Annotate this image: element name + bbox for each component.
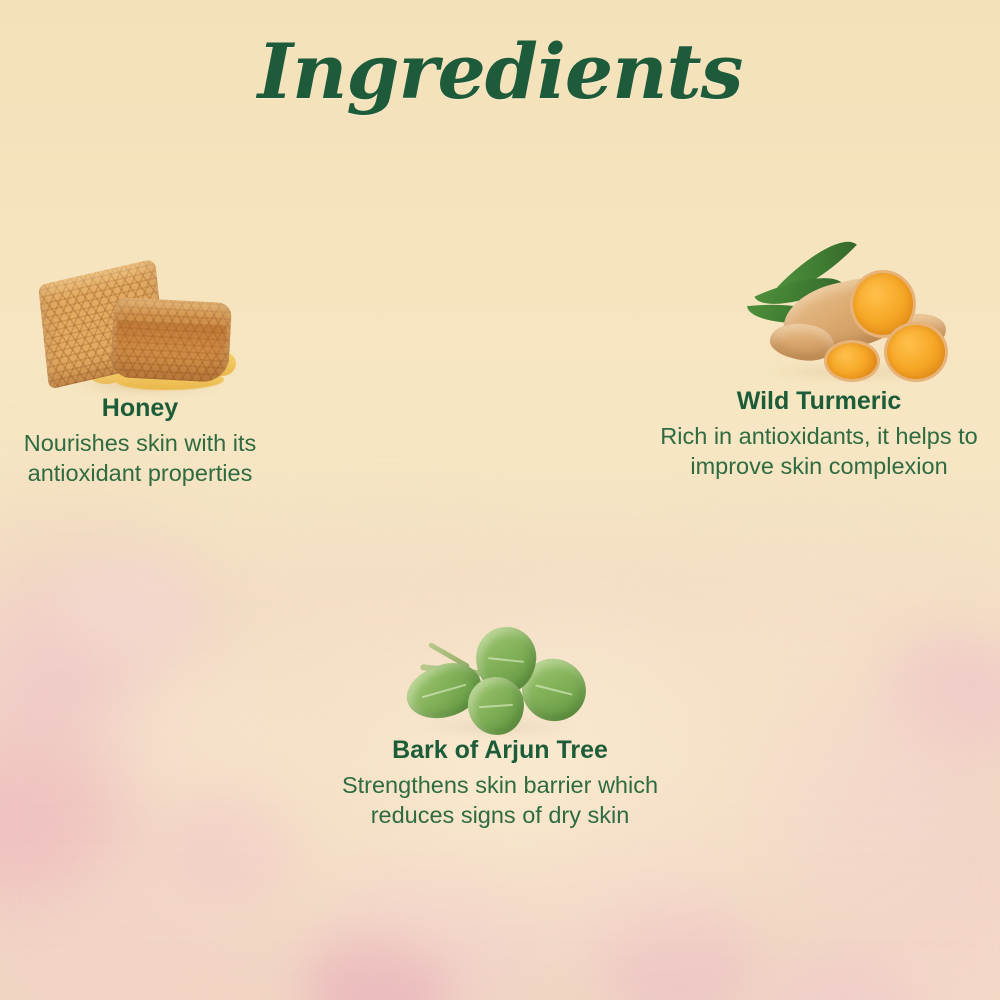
ingredient-card-honey: Honey Nourishes skin with its antioxidan… — [0, 270, 280, 489]
bokeh-blob — [740, 720, 960, 890]
bokeh-blob — [0, 600, 190, 780]
description-line: Rich in antioxidants, it helps to — [638, 421, 1000, 452]
ingredient-card-wild-turmeric: Wild Turmeric Rich in antioxidants, it h… — [638, 248, 1000, 482]
arjun-leaves-illustration — [300, 625, 700, 737]
turmeric-slice — [884, 322, 948, 382]
description-line: antioxidant properties — [0, 458, 280, 489]
ingredient-card-bark-of-arjun-tree: Bark of Arjun Tree Strengthens skin barr… — [300, 625, 700, 831]
leaf-vein — [479, 704, 513, 708]
description-line: improve skin complexion — [638, 451, 1000, 482]
ingredient-name-bark-of-arjun-tree: Bark of Arjun Tree — [300, 737, 700, 765]
ingredients-poster: Ingredients Honey Nourishes skin with it… — [0, 0, 1000, 1000]
bokeh-blob — [170, 790, 300, 900]
bokeh-blob — [330, 840, 540, 1000]
bokeh-blob — [60, 560, 200, 660]
bokeh-blob — [120, 660, 310, 810]
background-bokeh — [0, 0, 1000, 1000]
bokeh-blob — [760, 960, 920, 1000]
bokeh-blob — [600, 900, 750, 1000]
bokeh-blob — [680, 560, 920, 740]
turmeric-root-illustration — [638, 248, 1000, 388]
leaf-vein — [535, 684, 573, 695]
bokeh-blob — [0, 940, 300, 1000]
bokeh-blob — [40, 860, 270, 1000]
ingredient-name-honey: Honey — [0, 395, 280, 423]
page-title: Ingredients — [0, 34, 1000, 110]
description-line: Strengthens skin barrier which — [300, 770, 700, 801]
honeycomb-rim — [115, 321, 227, 367]
bokeh-blob — [880, 640, 1000, 760]
leaf-vein — [422, 684, 466, 698]
description-line: reduces signs of dry skin — [300, 800, 700, 831]
description-line: Nourishes skin with its — [0, 428, 280, 459]
bokeh-blob — [300, 930, 450, 1000]
leaf-vein — [488, 657, 524, 663]
ingredient-name-wild-turmeric: Wild Turmeric — [638, 388, 1000, 416]
bokeh-blob — [830, 860, 1000, 1000]
ingredient-description-bark-of-arjun-tree: Strengthens skin barrier which reduces s… — [300, 770, 700, 831]
ingredient-description-honey: Nourishes skin with its antioxidant prop… — [0, 428, 280, 489]
honeycomb-illustration — [0, 270, 280, 395]
bokeh-blob — [0, 740, 150, 910]
ingredient-description-wild-turmeric: Rich in antioxidants, it helps to improv… — [638, 421, 1000, 482]
bokeh-blob — [0, 500, 190, 690]
turmeric-slice — [824, 340, 880, 382]
